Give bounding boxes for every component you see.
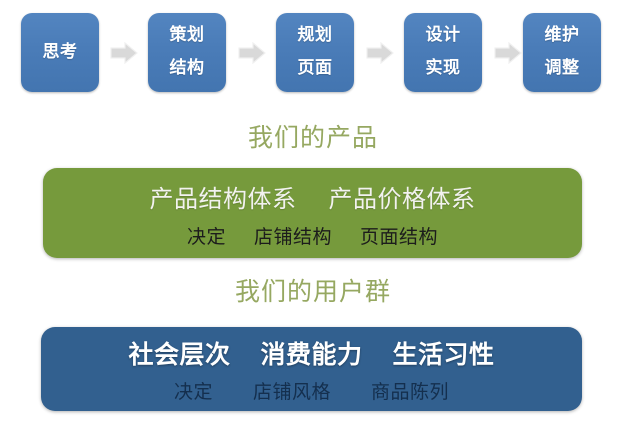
panel-users-secondary-item: 决定 bbox=[174, 377, 213, 404]
panel-users-primary-item: 生活习性 bbox=[393, 335, 495, 371]
flow-step-label-line2: 页面 bbox=[298, 60, 333, 78]
panel-products-primary-item: 产品结构体系 bbox=[150, 179, 297, 214]
arrow-right-icon bbox=[238, 42, 266, 64]
panel-users-primary-row: 社会层次 消费能力 生活习性 bbox=[41, 335, 582, 371]
panel-users-secondary-row: 决定 店铺风格 商品陈列 bbox=[41, 377, 582, 404]
process-flow-diagram: 思考 策划 结构 规划 页面 设计 实现 维护 调整 bbox=[0, 0, 626, 108]
panel-products-secondary-item: 页面结构 bbox=[360, 222, 438, 249]
panel-products-primary-row: 产品结构体系 产品价格体系 bbox=[43, 179, 582, 214]
section-heading-users: 我们的用户群 bbox=[0, 272, 626, 308]
flow-step-label-line2: 调整 bbox=[545, 60, 580, 78]
flow-step-label-line2: 结构 bbox=[170, 60, 205, 78]
flow-step-design[interactable]: 设计 实现 bbox=[404, 13, 482, 92]
arrow-right-icon bbox=[494, 42, 522, 64]
panel-users-primary-item: 社会层次 bbox=[128, 335, 230, 371]
arrow-right-icon bbox=[366, 42, 394, 64]
panel-products-primary-item: 产品价格体系 bbox=[329, 179, 476, 214]
flow-step-label-line1: 思考 bbox=[43, 44, 78, 62]
section-heading-products: 我们的产品 bbox=[0, 118, 626, 154]
panel-users-secondary-item: 店铺风格 bbox=[253, 377, 331, 404]
panel-users-primary-item: 消费能力 bbox=[260, 335, 362, 371]
flow-step-layout[interactable]: 规划 页面 bbox=[276, 13, 354, 92]
flow-step-label-line2: 实现 bbox=[426, 60, 461, 78]
flow-step-plan[interactable]: 策划 结构 bbox=[148, 13, 226, 92]
arrow-right-icon bbox=[110, 42, 138, 64]
panel-products-secondary-row: 决定 店铺结构 页面结构 bbox=[43, 222, 582, 249]
panel-products-secondary-item: 决定 bbox=[187, 222, 226, 249]
flow-step-maintain[interactable]: 维护 调整 bbox=[523, 13, 601, 92]
panel-users: 社会层次 消费能力 生活习性 决定 店铺风格 商品陈列 bbox=[41, 327, 582, 411]
flow-step-label-line1: 策划 bbox=[170, 27, 205, 45]
panel-products-secondary-item: 店铺结构 bbox=[254, 222, 332, 249]
flow-step-think[interactable]: 思考 bbox=[21, 13, 99, 92]
panel-products: 产品结构体系 产品价格体系 决定 店铺结构 页面结构 bbox=[43, 168, 582, 258]
flow-step-label-line1: 规划 bbox=[298, 27, 333, 45]
panel-users-secondary-item: 商品陈列 bbox=[371, 377, 449, 404]
flow-step-label-line1: 维护 bbox=[545, 27, 580, 45]
flow-step-label-line1: 设计 bbox=[426, 27, 461, 45]
